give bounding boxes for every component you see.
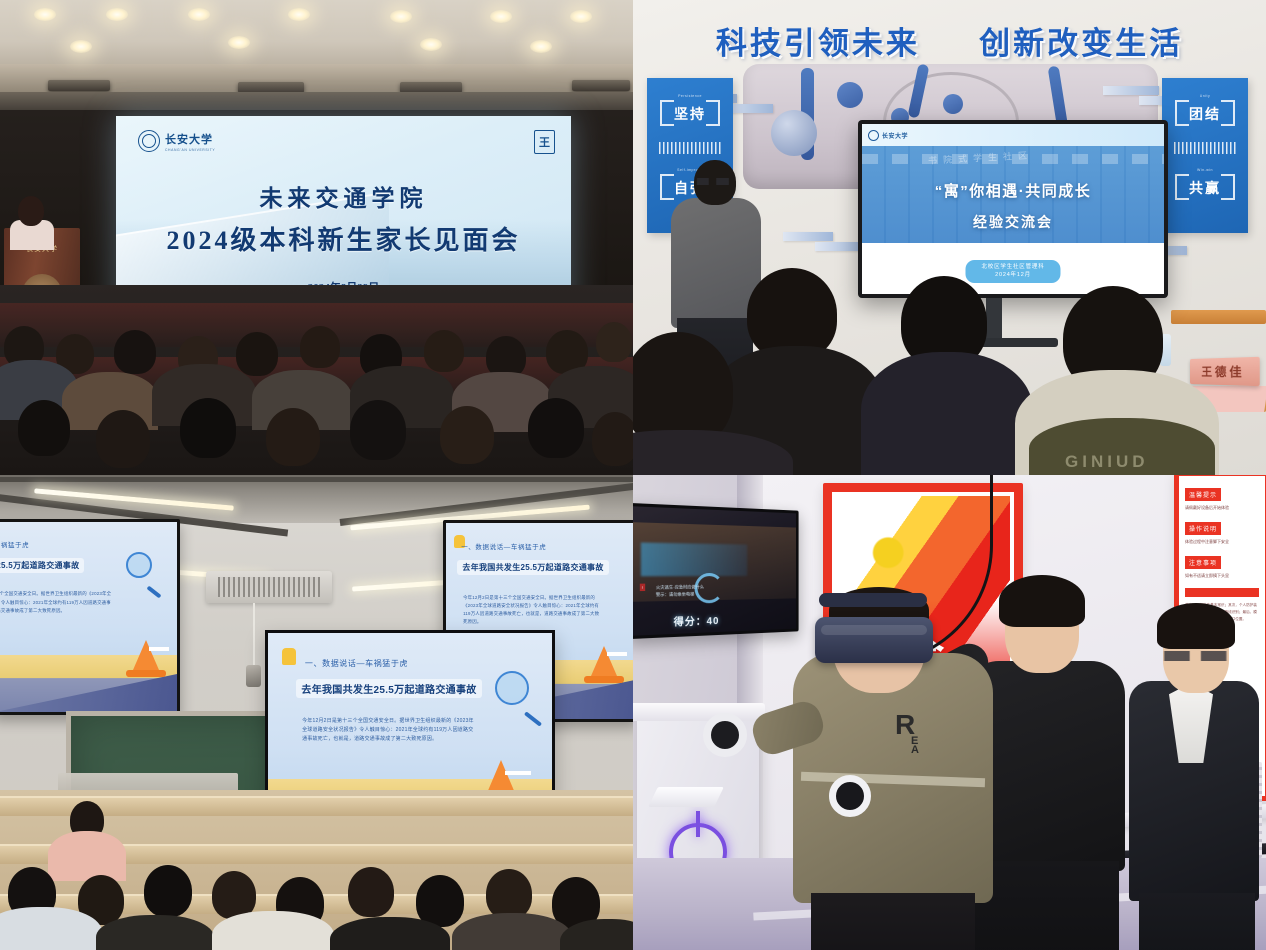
vr-controller-left[interactable] [703,713,747,757]
keyword-0: 坚持 [674,104,706,124]
downlight-icon [288,8,310,21]
stair-graphic [783,232,833,241]
wall-slogan: 科技引领未来 创新改变生活 [633,18,1266,63]
downlight-icon [34,8,56,21]
downlight-icon [228,36,250,49]
glasses-icon [694,178,736,185]
panel-traffic-safety-lecture: 一、数据说话—车祸猛于虎 去年我国共发生25.5万起道路交通事故 今年12月2日… [0,475,633,950]
magnifier-handle-icon [524,711,542,726]
downlight-icon [390,10,412,23]
node-icon [943,94,963,114]
university-seal-icon [868,130,879,141]
score-readout: 得分：40 [674,612,720,629]
monitor-alert-tag: ! [639,584,644,591]
glasses-icon [1161,651,1231,661]
wall-slogan-right: 创新改变生活 [979,26,1183,61]
jacket-text-sub: EA [911,737,920,756]
pendant-weight [246,665,261,687]
university-name-en: CHANG'AN UNIVERSITY [165,148,215,152]
slide-paragraph: 今年12月2日是第十三个全国交通安全日。据世界卫生组织最新的《2023年全球道路… [463,594,600,627]
control-tablet [648,787,724,807]
info-line-1: 体验过程中注意脚下安全 [1185,538,1259,545]
guide-legs [973,861,1119,950]
speaker-head [18,196,44,226]
stair-graphic [1103,86,1159,95]
pedestal-top [633,703,765,721]
keyword-sub-3: Win-win [1197,168,1213,172]
slide-footer-line2: 2024年12月 [981,271,1044,279]
tv-stand [986,298,1002,342]
chair-row [0,303,633,347]
node-icon [771,110,817,156]
slide-headline: 去年我国共发生25.5万起道路交通事故 [296,679,481,698]
university-seal-icon [138,130,160,152]
spotlight-bar [572,80,630,91]
downlight-icon [420,38,442,51]
magnifier-icon [126,552,152,578]
node-icon [837,82,863,108]
presenter-legs [677,318,753,428]
tv-screen: 长安大学 书院式学生社区 “寓”你相遇·共同成长 经验交流会 北校区学生社区管理… [862,124,1164,294]
slide-subhead: 经验交流会 [862,212,1164,232]
slide-section-title: 一、数据说话—车祸猛于虎 [0,539,29,549]
side-desk [1171,310,1266,324]
panel-parents-meeting: 长安大学 CHANG'AN UNIVERSITY 王 未来交通学院 2024级本… [0,0,633,475]
photo-collage: 长安大学 CHANG'AN UNIVERSITY 王 未来交通学院 2024级本… [0,0,1266,950]
vr-preview-monitor: ! 火灾逃生·应急时应做什么 警示：请勿乘坐电梯 得分：40 [633,503,799,639]
info-divider [1185,588,1259,597]
slide-paragraph: 今年12月2日是第十三个全国交通安全日。据世界卫生组织最新的《2023年全球道路… [0,590,111,614]
presenter-body [671,198,761,328]
downlight-icon [530,40,552,53]
score-label: 得分： [674,616,707,628]
traffic-cone-icon [133,640,159,670]
cone-stripe [505,771,531,775]
keyword-sub-0: Persistence [678,94,702,98]
slide-left: 一、数据说话—车祸猛于虎 去年我国共发生25.5万起道路交通事故 今年12月2日… [0,522,177,712]
lightbulb-icon [282,648,296,665]
wall-slogan-left: 科技引领未来 [716,26,920,61]
vr-headset-strap [819,593,927,607]
university-name: 长安大学 [165,134,213,146]
student-seating [0,790,633,950]
ceiling-beam [0,477,633,482]
pipe-graphic [908,63,930,118]
left-monitor: 一、数据说话—车祸猛于虎 去年我国共发生25.5万起道路交通事故 今年12月2日… [0,519,180,715]
slide-paragraph: 今年12月2日是第十三个全国交通安全日。据世界卫生组织最新的《2023年全球道路… [302,717,478,745]
jacket-text: R EA [895,713,920,755]
vr-headset-icon [815,617,933,663]
nameplate-text: 王德佳 [1201,363,1244,381]
slide-footer-pill: 北校区学生社区管理科 2024年12月 [965,260,1060,283]
vr-user-legs [811,893,975,950]
chair-row [0,357,633,401]
desk-paper [1154,386,1266,412]
slide-title-line1: 未来交通学院 [116,179,571,213]
water-bottle [1160,334,1171,366]
slide-title-line2: 2024级本科新生家长见面会 [116,220,571,257]
barcode-graphic [659,142,721,154]
panel-dorm-experience-sharing: 科技引领未来 创新改变生活 Persistence 坚持 [633,0,1266,475]
secondary-seal-icon: 王 [534,130,555,154]
guide-hair [999,575,1085,627]
wall-panel-right: Unity 团结 Win-win 共赢 [1162,78,1248,233]
magnifier-handle-icon [147,586,162,599]
monitor-screen: ! 火灾逃生·应急时应做什么 警示：请勿乘坐电梯 得分：40 [633,506,796,636]
monitor-hud-text: 火灾逃生·应急时应做什么 警示：请勿乘坐电梯 [656,583,704,598]
slide-section-title: 一、数据说话—车祸猛于虎 [305,658,408,669]
downlight-icon [490,10,512,23]
keyword-3: 共赢 [1189,178,1221,198]
air-conditioner [206,571,332,603]
observer-hair [1157,603,1235,649]
hud-line-2: 警示：请勿乘坐电梯 [656,591,704,599]
info-header-0: 温馨提示 [1185,488,1221,501]
spotlight-bar [48,80,110,91]
downlight-icon [70,40,92,53]
slide-headline: 去年我国共发生25.5万起道路交通事故 [457,560,608,575]
slide-header: 长安大学 [862,124,1164,146]
tv-display: 长安大学 书院式学生社区 “寓”你相遇·共同成长 经验交流会 北校区学生社区管理… [858,120,1168,298]
info-header-1: 操作说明 [1185,522,1221,535]
downlight-icon [106,8,128,21]
university-logo: 长安大学 CHANG'AN UNIVERSITY [138,130,215,152]
vr-controller-right[interactable] [829,775,871,817]
slide-headline: “寓”你相遇·共同成长 [862,180,1164,201]
audience-area [0,285,633,475]
slide-footer-line1: 北校区学生社区管理科 [981,263,1044,271]
downlight-icon [570,10,592,23]
slide-headline: 去年我国共发生25.5万起道路交通事故 [0,558,84,573]
nameplate: 王德佳 [1190,357,1260,386]
score-value: 40 [707,616,720,628]
info-line-2: 如有不适请立即摘下头显 [1185,572,1259,579]
info-line-0: 请佩戴好设备后开始体验 [1185,504,1259,511]
keyword-sub-2: Unity [1200,94,1210,98]
downlight-icon [188,8,210,21]
panel-vr-fire-safety: 全 温馨提示 请佩戴好设备后开始体验 操作说明 体验过程中注意脚下安全 注意事项… [633,475,1266,950]
info-header-2: 注意事项 [1185,556,1221,569]
observer-legs [1139,893,1255,950]
barcode-graphic [1174,142,1236,154]
desk-row [0,894,633,914]
traffic-cone-icon [591,646,617,676]
slide-section-title: 一、数据说话—车祸猛于虎 [461,541,546,551]
monitor-hud-glow [641,543,747,576]
tv-base [933,338,1058,347]
magnifier-icon [495,671,529,705]
desk-row [0,796,633,816]
pendant-cable [253,603,255,667]
cone-stripe [607,652,627,656]
desk-row [0,844,633,864]
cone-stripe [149,647,169,651]
slide-header-name: 长安大学 [882,131,908,140]
keyword-2: 团结 [1189,104,1221,124]
